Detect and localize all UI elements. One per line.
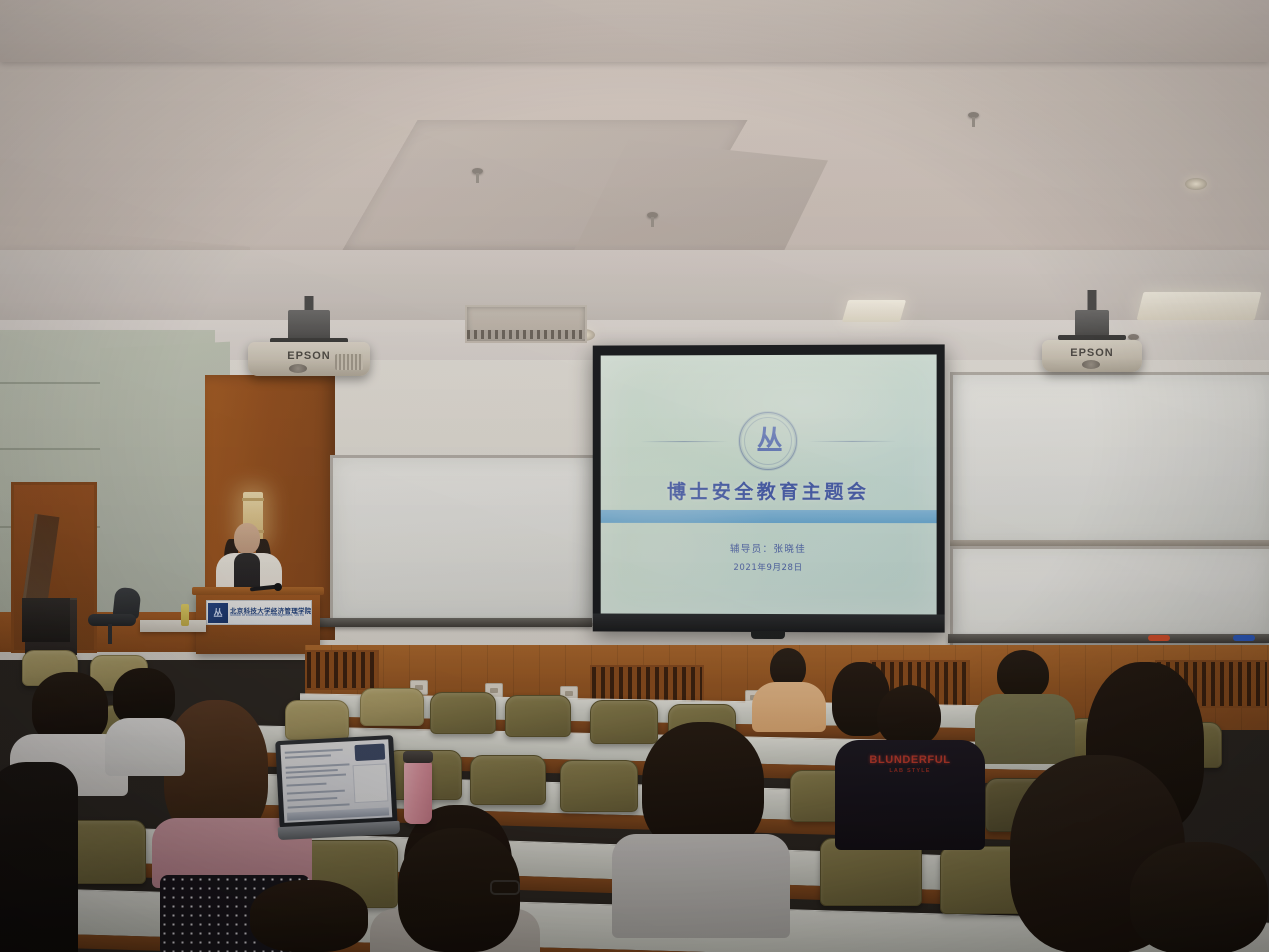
projector-mount-bracket	[288, 310, 330, 340]
school-badge-icon: 丛	[208, 603, 228, 623]
torso	[612, 834, 790, 938]
slide-rule-right	[808, 441, 896, 442]
torso	[105, 718, 185, 776]
water-bottle[interactable]	[404, 760, 432, 824]
audience-member	[752, 648, 826, 728]
ceiling-beam-front	[0, 0, 1269, 62]
projector-right: EPSON	[1042, 290, 1142, 378]
chair[interactable]	[430, 692, 496, 734]
side-table	[140, 620, 206, 632]
slide-accent-band	[601, 510, 937, 523]
whiteboard-right-lower	[950, 546, 1269, 648]
slide-date: 2021年9月28日	[601, 561, 937, 574]
wall-grille	[305, 650, 379, 690]
projector-brand-label: EPSON	[287, 350, 331, 362]
lecture-hall-photo: 丛 博士安全教育主题会 辅导员：张晓佳 2021年9月28日 EPSON EPS	[0, 0, 1269, 952]
glasses-icon	[490, 880, 520, 895]
hair	[642, 722, 764, 852]
projection-screen: 丛 博士安全教育主题会 辅导员：张晓佳 2021年9月28日	[593, 344, 945, 632]
microphone	[250, 580, 280, 592]
lectern: 丛 北京科技大学经济管理学院 School of Economics and M…	[196, 592, 320, 654]
torso-shirt: BLUNDERFUL LAB STYLE	[835, 740, 985, 850]
head	[877, 685, 941, 747]
slide-presenter-line: 辅导员：张晓佳	[601, 541, 937, 555]
torso	[0, 762, 78, 952]
whiteboard-ledge-left	[310, 618, 592, 627]
whiteboard-left	[330, 455, 598, 626]
screen-pull-tab[interactable]	[751, 631, 785, 639]
lectern-name-en: School of Economics and Management, USTB	[230, 614, 312, 617]
laptop-lid	[275, 735, 397, 829]
chair[interactable]	[505, 695, 571, 737]
ceiling-panel-light	[842, 300, 906, 322]
audience-member-blunderful: BLUNDERFUL LAB STYLE	[835, 685, 985, 850]
audience-member	[250, 880, 370, 952]
laptop[interactable]	[275, 735, 401, 853]
slide-title: 博士安全教育主题会	[601, 477, 937, 504]
lectern-nameplate: 丛 北京科技大学经济管理学院 School of Economics and M…	[206, 600, 312, 625]
audience-member	[975, 650, 1075, 760]
projector-body: EPSON	[1042, 340, 1142, 372]
audience-member	[612, 722, 790, 937]
slide-surface: 丛 博士安全教育主题会 辅导员：张晓佳 2021年9月28日	[601, 354, 937, 614]
whiteboard-ledge-right	[948, 634, 1269, 643]
air-conditioner-vent	[465, 305, 587, 343]
audience-member	[1130, 842, 1269, 952]
projector-body: EPSON	[248, 342, 370, 376]
torso	[975, 694, 1075, 764]
slide-rule-left	[641, 441, 728, 442]
audience-member	[0, 762, 78, 952]
university-seal-logo: 丛	[739, 412, 797, 470]
ceiling-panel-light	[1137, 292, 1262, 320]
projector-lens	[289, 364, 307, 373]
projector-mount-bracket	[1075, 310, 1109, 336]
laptop-badge	[354, 744, 385, 762]
shirt-sub-text: LAB STYLE	[835, 768, 985, 774]
shirt-main-text: BLUNDERFUL	[835, 754, 985, 766]
audience-member	[105, 668, 185, 776]
sprinkler-icon	[470, 168, 484, 184]
red-marker[interactable]	[1148, 635, 1170, 641]
blue-marker[interactable]	[1233, 635, 1255, 641]
logo-monogram: 丛	[756, 428, 779, 454]
office-chair[interactable]	[88, 588, 146, 630]
head	[997, 650, 1049, 700]
sprinkler-icon	[966, 112, 980, 128]
sprinkler-icon	[645, 212, 659, 228]
chair[interactable]	[360, 688, 424, 726]
chair[interactable]	[470, 755, 546, 805]
floor-equipment-box	[22, 598, 70, 642]
screen-bottom-bar	[593, 613, 945, 632]
bottle[interactable]	[181, 604, 189, 626]
hair	[250, 880, 368, 952]
laptop-screen[interactable]	[280, 739, 392, 823]
projector-lens	[1082, 360, 1100, 369]
laptop-taskbar[interactable]	[287, 807, 389, 820]
whiteboard-right-upper	[950, 372, 1269, 550]
downlight-icon	[1185, 178, 1207, 190]
projector-brand-label: EPSON	[1070, 347, 1114, 359]
presenter-head	[234, 523, 260, 554]
laptop-sidebar-panel	[353, 763, 389, 803]
audience-member	[378, 828, 538, 952]
projector-vent	[335, 354, 363, 370]
projector-left: EPSON	[248, 296, 370, 378]
hair	[1130, 842, 1268, 952]
bottle-lid	[403, 751, 433, 763]
